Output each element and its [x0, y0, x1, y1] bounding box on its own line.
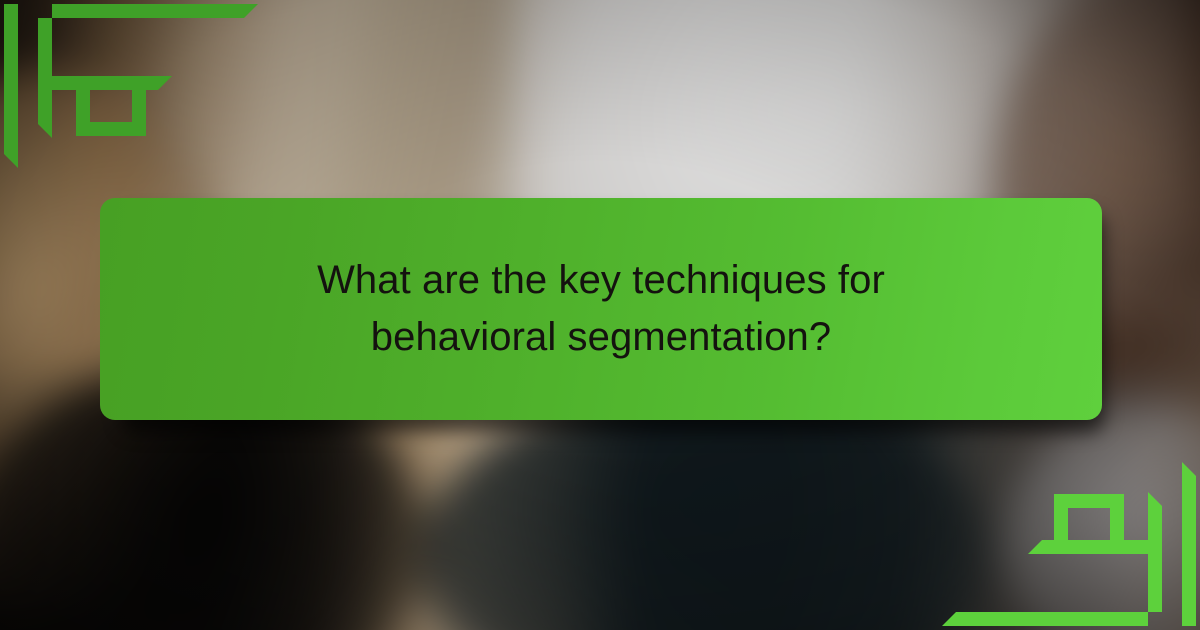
hero-card: What are the key techniques forbehaviora…	[0, 0, 1200, 630]
page-title: What are the key techniques forbehaviora…	[170, 252, 1032, 366]
page-title-line-1: What are the key techniques for	[317, 258, 885, 302]
page-title-line-2: behavioral segmentation?	[371, 315, 832, 359]
headline-banner: What are the key techniques forbehaviora…	[100, 198, 1102, 420]
